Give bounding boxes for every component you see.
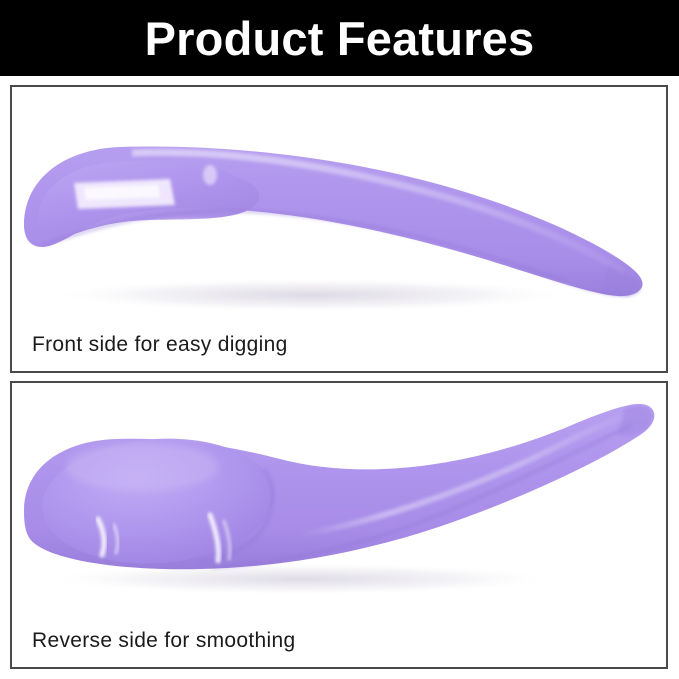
spatula-reverse-illustration: [12, 383, 666, 621]
page-title: Product Features: [145, 15, 535, 62]
panel-caption-front-side: Front side for easy digging: [32, 333, 288, 357]
panel-caption-reverse-side: Reverse side for smoothing: [32, 629, 295, 653]
feature-panel-reverse-side: Reverse side for smoothing: [10, 381, 668, 669]
product-features-image: Product Features: [0, 0, 679, 679]
header-banner: Product Features: [0, 0, 679, 76]
bowl-reflection-highlight: [74, 179, 175, 209]
product-shadow: [44, 563, 560, 595]
spatula-front-illustration: [12, 87, 666, 325]
feature-panel-front-side: Front side for easy digging: [10, 85, 668, 373]
specular-dot: [203, 165, 217, 185]
product-photo-front-side: [12, 87, 666, 325]
product-photo-reverse-side: [12, 383, 666, 621]
bulge-top-sheen: [66, 443, 218, 491]
product-shadow: [50, 278, 574, 312]
